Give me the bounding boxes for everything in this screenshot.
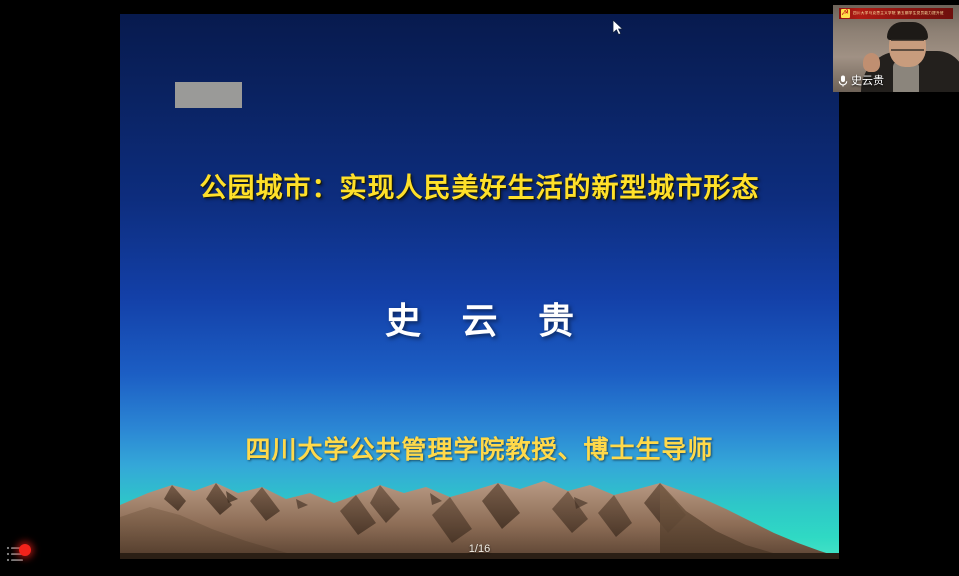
party-emblem-icon	[841, 9, 850, 18]
logo-placeholder	[175, 82, 242, 108]
slide-title: 公园城市：实现人民美好生活的新型城市形态	[120, 166, 839, 205]
presenter-video-tile[interactable]: 四川大学马克思主义学院 第五期学生党员能力提升班 史云贵	[833, 5, 959, 92]
presenter-hand	[863, 53, 880, 72]
slide-page-counter: 1/16	[120, 543, 839, 555]
presenter-glasses	[891, 39, 924, 51]
slide-speaker-name: 史 云 贵	[120, 292, 839, 344]
presentation-slide[interactable]: 公园城市：实现人民美好生活的新型城市形态 史 云 贵 四川大学公共管理学院教授、…	[120, 14, 839, 559]
microphone-icon	[837, 74, 849, 88]
event-banner: 四川大学马克思主义学院 第五期学生党员能力提升班	[839, 8, 953, 19]
recording-indicator[interactable]	[6, 542, 36, 570]
presenter-username: 史云贵	[851, 75, 884, 87]
presenter-hair	[887, 22, 928, 40]
video-name-bar: 史云贵	[837, 74, 884, 88]
recording-dot-icon	[19, 544, 31, 556]
event-banner-text: 四川大学马克思主义学院 第五期学生党员能力提升班	[853, 11, 944, 16]
screen-share-stage: 公园城市：实现人民美好生活的新型城市形态 史 云 贵 四川大学公共管理学院教授、…	[0, 0, 959, 576]
